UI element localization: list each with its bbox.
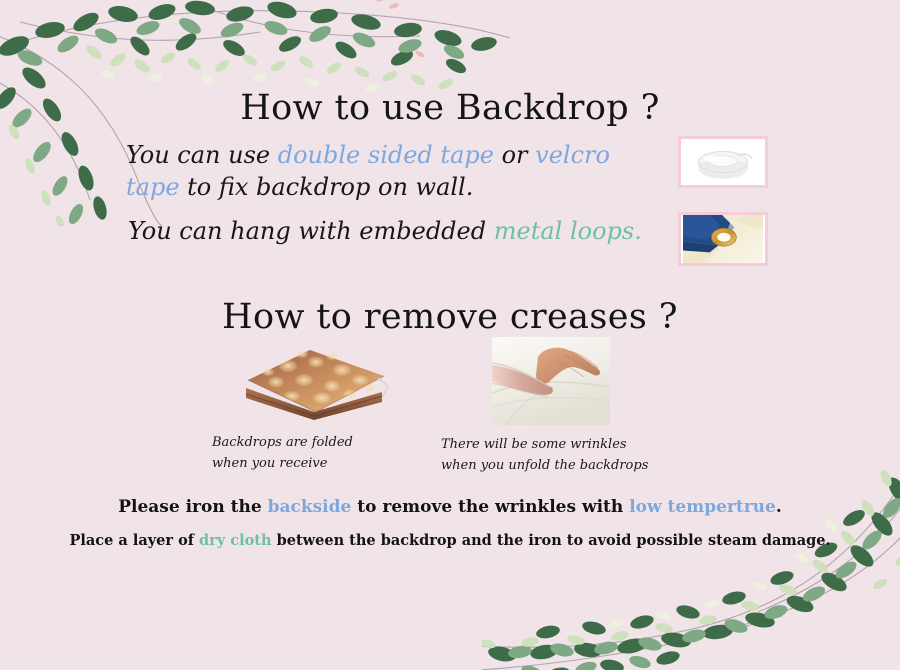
highlight-double-sided-tape: double sided tape — [278, 141, 494, 169]
note-iron-part3: . — [776, 497, 782, 517]
caption-folded-line1: Backdrops are folded — [212, 432, 422, 453]
note-iron-part2: to remove the wrinkles with — [351, 497, 629, 517]
instruction-metal-loops: You can hang with embedded metal loops. — [128, 216, 668, 248]
caption-wrinkles-line1: There will be some wrinkles — [441, 434, 681, 455]
instruction-tape-part1: You can use — [126, 141, 278, 169]
page-title-how-to-use-backdrop: How to use Backdrop ? — [0, 88, 900, 128]
smoothing-wrinkles-photo — [492, 337, 610, 425]
highlight-metal-loops: metal loops. — [494, 217, 642, 245]
note-cloth-part1: Place a layer of — [69, 532, 199, 549]
instruction-tape-part3: to fix backdrop on wall. — [180, 173, 474, 201]
note-cloth-part2: between the backdrop and the iron to avo… — [272, 532, 831, 549]
folded-backdrop-photo — [232, 336, 392, 422]
caption-wrinkles: There will be some wrinkles when you unf… — [441, 434, 681, 477]
instruction-loops-part1: You can hang with embedded — [128, 217, 494, 245]
backdrop-instruction-graphic: How to use Backdrop ? You can use double… — [0, 0, 900, 670]
note-iron-part1: Please iron the — [118, 497, 267, 517]
highlight-low-temperature: low tempertrue — [629, 497, 776, 517]
page-title-how-to-remove-creases: How to remove creases ? — [0, 297, 900, 337]
note-dry-cloth: Place a layer of dry cloth between the b… — [0, 532, 900, 549]
caption-wrinkles-line2: when you unfold the backdrops — [441, 455, 681, 476]
highlight-dry-cloth: dry cloth — [199, 532, 272, 549]
caption-folded-line2: when you receive — [212, 453, 422, 474]
thumbnail-double-sided-tape — [678, 136, 768, 188]
instruction-tape-part2: or — [494, 141, 535, 169]
highlight-backside: backside — [268, 497, 352, 517]
caption-folded-backdrop: Backdrops are folded when you receive — [212, 432, 422, 475]
note-iron-backside: Please iron the backside to remove the w… — [0, 497, 900, 517]
instruction-tape: You can use double sided tape or velcro … — [126, 140, 646, 203]
thumbnail-metal-grommet — [678, 212, 768, 266]
